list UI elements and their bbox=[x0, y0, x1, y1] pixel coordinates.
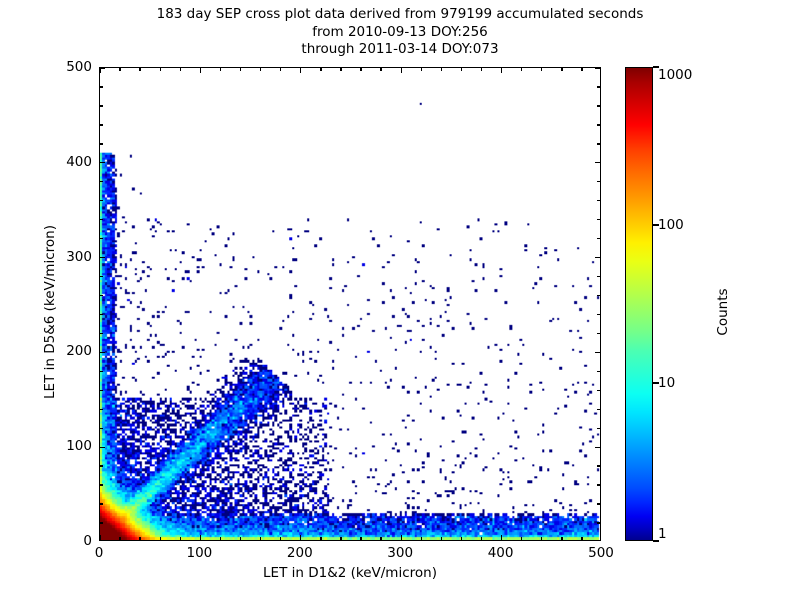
y-minor-tick bbox=[100, 200, 103, 201]
y-minor-tick bbox=[100, 219, 103, 220]
x-minor-tick bbox=[380, 537, 381, 540]
x-minor-tick bbox=[160, 68, 161, 71]
y-minor-tick bbox=[100, 143, 103, 144]
x-minor-tick bbox=[180, 537, 181, 540]
x-minor-tick bbox=[119, 537, 120, 540]
x-minor-tick bbox=[260, 537, 261, 540]
colorbar-label-100: 100 bbox=[658, 217, 684, 233]
x-minor-tick bbox=[360, 537, 361, 540]
x-minor-tick bbox=[481, 537, 482, 540]
y-minor-tick bbox=[100, 371, 103, 372]
y-tick-200 bbox=[595, 352, 600, 353]
y-minor-tick bbox=[100, 314, 103, 315]
x-minor-tick bbox=[461, 537, 462, 540]
colorbar-label-1000: 1000 bbox=[658, 67, 692, 83]
x-minor-tick bbox=[220, 68, 221, 71]
x-minor-tick bbox=[421, 537, 422, 540]
y-minor-tick bbox=[597, 428, 600, 429]
x-minor-tick bbox=[581, 537, 582, 540]
x-tick-400 bbox=[501, 68, 502, 73]
y-minor-tick bbox=[597, 105, 600, 106]
y-tick-label-300: 300 bbox=[30, 249, 92, 265]
x-minor-tick bbox=[441, 68, 442, 71]
x-tick-0 bbox=[99, 535, 100, 540]
y-minor-tick bbox=[100, 238, 103, 239]
x-minor-tick bbox=[240, 68, 241, 71]
y-minor-tick bbox=[597, 503, 600, 504]
x-tick-200 bbox=[300, 68, 301, 73]
x-minor-tick bbox=[561, 68, 562, 71]
y-minor-tick bbox=[100, 390, 103, 391]
y-minor-tick bbox=[100, 105, 103, 106]
x-minor-tick bbox=[521, 537, 522, 540]
x-minor-tick bbox=[320, 68, 321, 71]
x-tick-300 bbox=[401, 68, 402, 73]
x-minor-tick bbox=[240, 537, 241, 540]
x-tick-label-100: 100 bbox=[187, 545, 213, 561]
y-tick-400 bbox=[595, 162, 600, 163]
x-minor-tick bbox=[461, 68, 462, 71]
y-minor-tick bbox=[100, 124, 103, 125]
x-tick-300 bbox=[401, 535, 402, 540]
y-minor-tick bbox=[597, 143, 600, 144]
x-minor-tick bbox=[280, 68, 281, 71]
title-line-3: through 2011-03-14 DOY:073 bbox=[0, 41, 800, 59]
heatmap-canvas bbox=[100, 68, 600, 540]
figure-root: 183 day SEP cross plot data derived from… bbox=[0, 0, 800, 600]
x-minor-tick bbox=[561, 537, 562, 540]
y-tick-label-100: 100 bbox=[30, 438, 92, 454]
x-minor-tick bbox=[441, 537, 442, 540]
y-tick-100 bbox=[100, 447, 105, 448]
x-minor-tick bbox=[139, 68, 140, 71]
x-tick-label-500: 500 bbox=[588, 545, 614, 561]
y-minor-tick bbox=[597, 295, 600, 296]
y-minor-tick bbox=[100, 409, 103, 410]
y-minor-tick bbox=[597, 371, 600, 372]
x-tick-label-200: 200 bbox=[287, 545, 313, 561]
y-minor-tick bbox=[597, 409, 600, 410]
title-line-1: 183 day SEP cross plot data derived from… bbox=[0, 6, 800, 24]
y-tick-100 bbox=[595, 447, 600, 448]
y-minor-tick bbox=[100, 295, 103, 296]
y-minor-tick bbox=[597, 86, 600, 87]
y-tick-400 bbox=[100, 162, 105, 163]
x-axis-title: LET in D1&2 (keV/micron) bbox=[99, 565, 601, 581]
x-minor-tick bbox=[160, 537, 161, 540]
y-minor-tick bbox=[100, 465, 103, 466]
colorbar-gradient bbox=[626, 68, 652, 540]
y-minor-tick bbox=[597, 333, 600, 334]
y-minor-tick bbox=[100, 428, 103, 429]
y-tick-300 bbox=[100, 257, 105, 258]
y-tick-label-500: 500 bbox=[30, 59, 92, 75]
y-minor-tick bbox=[597, 484, 600, 485]
x-minor-tick bbox=[119, 68, 120, 71]
y-minor-tick bbox=[597, 522, 600, 523]
x-minor-tick bbox=[340, 68, 341, 71]
x-minor-tick bbox=[541, 537, 542, 540]
y-tick-500 bbox=[595, 67, 600, 68]
y-tick-200 bbox=[100, 352, 105, 353]
y-axis-title: LET in D5&6 (keV/micron) bbox=[42, 192, 58, 432]
x-tick-label-300: 300 bbox=[387, 545, 413, 561]
colorbar bbox=[625, 67, 653, 541]
y-tick-label-200: 200 bbox=[30, 343, 92, 359]
y-minor-tick bbox=[100, 522, 103, 523]
y-minor-tick bbox=[100, 276, 103, 277]
x-tick-label-400: 400 bbox=[488, 545, 514, 561]
x-minor-tick bbox=[581, 68, 582, 71]
y-minor-tick bbox=[597, 181, 600, 182]
plot-area bbox=[99, 67, 601, 541]
x-tick-label-0: 0 bbox=[95, 545, 104, 561]
x-minor-tick bbox=[220, 537, 221, 540]
x-minor-tick bbox=[481, 68, 482, 71]
x-minor-tick bbox=[360, 68, 361, 71]
x-minor-tick bbox=[521, 68, 522, 71]
x-minor-tick bbox=[421, 68, 422, 71]
y-minor-tick bbox=[100, 484, 103, 485]
y-minor-tick bbox=[100, 333, 103, 334]
x-minor-tick bbox=[260, 68, 261, 71]
y-minor-tick bbox=[100, 86, 103, 87]
y-minor-tick bbox=[100, 503, 103, 504]
y-minor-tick bbox=[597, 200, 600, 201]
y-minor-tick bbox=[597, 219, 600, 220]
x-minor-tick bbox=[380, 68, 381, 71]
figure-title: 183 day SEP cross plot data derived from… bbox=[0, 6, 800, 59]
x-minor-tick bbox=[340, 537, 341, 540]
x-tick-200 bbox=[300, 535, 301, 540]
y-tick-label-0: 0 bbox=[30, 533, 92, 549]
x-tick-400 bbox=[501, 535, 502, 540]
colorbar-title: Counts bbox=[715, 232, 731, 392]
y-minor-tick bbox=[597, 124, 600, 125]
y-minor-tick bbox=[597, 314, 600, 315]
colorbar-label-1: 1 bbox=[658, 526, 667, 542]
x-minor-tick bbox=[541, 68, 542, 71]
y-minor-tick bbox=[597, 465, 600, 466]
colorbar-label-10: 10 bbox=[658, 375, 675, 391]
y-tick-300 bbox=[595, 257, 600, 258]
x-tick-100 bbox=[200, 535, 201, 540]
x-tick-0 bbox=[99, 68, 100, 73]
title-line-2: from 2010-09-13 DOY:256 bbox=[0, 24, 800, 42]
x-minor-tick bbox=[320, 537, 321, 540]
y-tick-label-400: 400 bbox=[30, 154, 92, 170]
y-minor-tick bbox=[100, 181, 103, 182]
x-minor-tick bbox=[139, 537, 140, 540]
x-minor-tick bbox=[180, 68, 181, 71]
y-minor-tick bbox=[597, 238, 600, 239]
y-minor-tick bbox=[597, 276, 600, 277]
x-minor-tick bbox=[280, 537, 281, 540]
x-tick-100 bbox=[200, 68, 201, 73]
y-minor-tick bbox=[597, 390, 600, 391]
y-tick-500 bbox=[100, 67, 105, 68]
